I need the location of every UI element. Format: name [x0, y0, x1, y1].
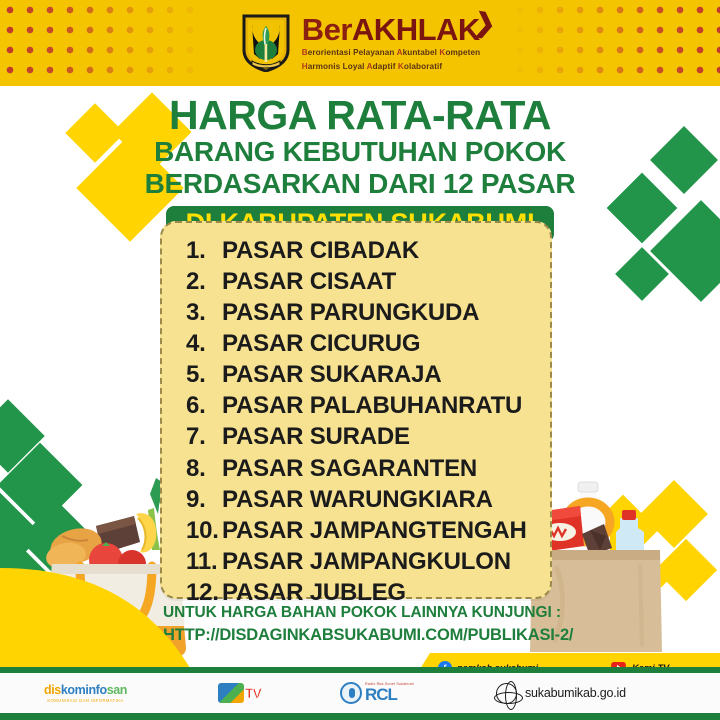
website-globe-logo — [496, 683, 517, 704]
rcl-text: Radio Rka Sonet Sukabumi RCL — [365, 683, 414, 704]
list-item-label: PASAR SURADE — [222, 421, 410, 452]
footer-logos: diskominfosan KOMUNIKASI DAN INFORMATIKA… — [0, 673, 720, 713]
market-list: 1.PASAR CIBADAK 2.PASAR CISAAT 3.PASAR P… — [162, 223, 550, 608]
list-item-label: PASAR PARUNGKUDA — [222, 297, 479, 328]
list-item-label: PASAR PALABUHANRATU — [222, 390, 522, 421]
poster-root: BerAKHLAK ❯ Berorientasi Pelayanan Akunt… — [0, 0, 720, 720]
list-item-number: 3. — [186, 297, 222, 328]
list-item-number: 2. — [186, 266, 222, 297]
list-item: 10.PASAR JAMPANGTENGAH — [186, 515, 550, 546]
list-item-number: 11. — [186, 546, 222, 577]
market-list-card: 1.PASAR CIBADAK 2.PASAR CISAAT 3.PASAR P… — [160, 221, 552, 599]
diskominfosan-subtext: KOMUNIKASI DAN INFORMATIKA — [47, 698, 123, 703]
list-item: 8.PASAR SAGARANTEN — [186, 453, 550, 484]
website-url-label: sukabumikab.go.id — [525, 686, 626, 700]
brand-tagline-line2: Harmonis Loyal Adaptif Kolaboratif — [302, 62, 481, 73]
list-item-label: PASAR SUKARAJA — [222, 359, 441, 390]
list-item: 6.PASAR PALABUHANRATU — [186, 390, 550, 421]
brand-tagline-line1: Berorientasi Pelayanan Akuntabel Kompete… — [302, 48, 481, 59]
brand-title: BerAKHLAK — [302, 14, 481, 45]
list-item-number: 8. — [186, 453, 222, 484]
strip-divider-bottom — [0, 713, 720, 720]
microphone-icon — [340, 682, 362, 704]
list-item: 2.PASAR CISAAT — [186, 266, 550, 297]
list-item-label: PASAR JAMPANGKULON — [222, 546, 511, 577]
list-item: 9.PASAR WARUNGKIARA — [186, 484, 550, 515]
list-item: 7.PASAR SURADE — [186, 421, 550, 452]
list-item-label: PASAR CIBADAK — [222, 235, 419, 266]
page-subtitle-2: BERDASARKAN DARI 12 PASAR — [0, 169, 720, 200]
list-item-number: 5. — [186, 359, 222, 390]
kami-tv-wordmark: TV — [245, 685, 261, 701]
kami-tv-logo: TV — [218, 683, 261, 703]
list-item-number: 10. — [186, 515, 222, 546]
brand-text: BerAKHLAK ❯ Berorientasi Pelayanan Akunt… — [302, 14, 481, 73]
kami-tv-mark — [218, 683, 244, 703]
chevron-right-icon: ❯ — [472, 6, 498, 40]
diskominfosan-logo: diskominfosan KOMUNIKASI DAN INFORMATIKA — [44, 683, 127, 703]
rcl-wordmark: RCL — [365, 686, 414, 703]
list-item-label: PASAR CISAAT — [222, 266, 396, 297]
list-item: 5.PASAR SUKARAJA — [186, 359, 550, 390]
cta-block: UNTUK HARGA BAHAN POKOK LAINNYA KUNJUNGI… — [163, 604, 583, 645]
list-item-number: 9. — [186, 484, 222, 515]
page-title: HARGA RATA-RATA — [0, 94, 720, 137]
sukabumi-regency-crest-icon — [240, 14, 292, 72]
list-item-number: 1. — [186, 235, 222, 266]
brand-title-prefix: Ber — [302, 12, 352, 47]
list-item: 1.PASAR CIBADAK — [186, 235, 550, 266]
list-item: 3.PASAR PARUNGKUDA — [186, 297, 550, 328]
list-item-number: 4. — [186, 328, 222, 359]
list-item: 11.PASAR JAMPANGKULON — [186, 546, 550, 577]
list-item-label: PASAR SAGARANTEN — [222, 453, 477, 484]
header-banner: BerAKHLAK ❯ Berorientasi Pelayanan Akunt… — [0, 0, 720, 86]
list-item-label: PASAR CICURUG — [222, 328, 420, 359]
cta-url[interactable]: HTTP://DISDAGINKABSUKABUMI.COM/PUBLIKASI… — [163, 625, 583, 645]
title-block: HARGA RATA-RATA BARANG KEBUTUHAN POKOK B… — [0, 86, 720, 242]
cta-text: UNTUK HARGA BAHAN POKOK LAINNYA KUNJUNGI… — [163, 604, 583, 623]
list-item-number: 7. — [186, 421, 222, 452]
list-item: 4.PASAR CICURUG — [186, 328, 550, 359]
website-logo: sukabumikab.go.id — [496, 683, 626, 704]
berakhlak-brand: BerAKHLAK ❯ Berorientasi Pelayanan Akunt… — [0, 0, 720, 86]
list-item-number: 6. — [186, 390, 222, 421]
brand-title-main: AKHLAK — [352, 12, 480, 47]
list-item-label: PASAR WARUNGKIARA — [222, 484, 493, 515]
radio-rcl-logo: Radio Rka Sonet Sukabumi RCL — [340, 682, 414, 704]
page-subtitle-1: BARANG KEBUTUHAN POKOK — [0, 137, 720, 168]
list-item-label: PASAR JAMPANGTENGAH — [222, 515, 527, 546]
diskominfosan-wordmark: diskominfosan — [44, 683, 127, 697]
footer-logo-strip: diskominfosan KOMUNIKASI DAN INFORMATIKA… — [0, 667, 720, 720]
